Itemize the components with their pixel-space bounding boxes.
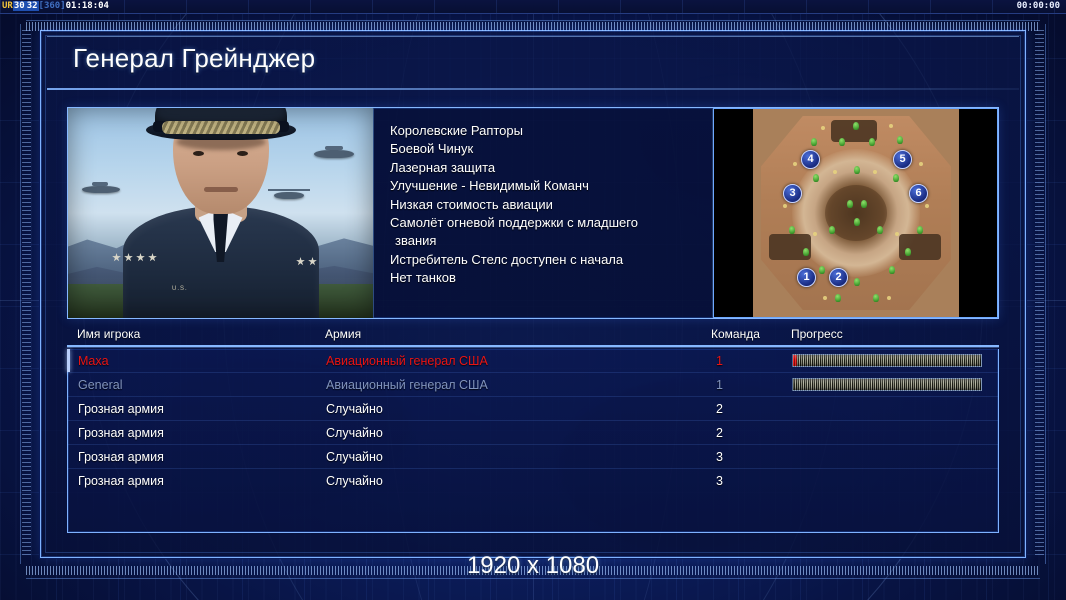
player-list-body: Maxa Авиационный генерал США 1 General А… [67,349,999,533]
map-tree [839,138,845,146]
map-tree [917,226,923,234]
map-resource [919,162,923,166]
map-start-position-5[interactable]: 5 [893,150,912,169]
map-tree [861,200,867,208]
ability-item: Самолёт огневой поддержки с младшего [390,214,702,232]
map-start-position-1[interactable]: 1 [797,268,816,287]
fps-value-secondary: 32 [26,1,39,11]
map-structure-bottomright [899,234,941,260]
map-start-position-6[interactable]: 6 [909,184,928,203]
player-team: 3 [716,445,723,469]
player-team: 2 [716,421,723,445]
header-progress: Прогресс [791,327,843,341]
map-resource [889,124,893,128]
frame-line-right [1045,24,1046,564]
map-tree [803,248,809,256]
map-tree [789,226,795,234]
fps-value: 30 [13,1,26,11]
frame-line-left [20,24,21,564]
fps-bracket: [360] [39,1,66,11]
player-name: Грозная армия [78,445,164,469]
map-preview-image: 1 2 3 4 5 6 [753,108,959,318]
title-top-rule [47,36,1019,37]
player-army: Случайно [326,397,383,421]
fps-counter: UR3032[360]01:18:04 [2,0,109,14]
map-tree [877,226,883,234]
ability-item: Низкая стоимость авиации [390,196,702,214]
player-progress-bar [792,354,982,367]
map-tree [853,122,859,130]
general-abilities-list: Королевские Рапторы Боевой Чинук Лазерна… [374,108,712,318]
ability-item: Истребитель Стелс доступен с начала [390,251,702,269]
table-row[interactable]: Maxa Авиационный генерал США 1 [68,349,998,373]
table-row[interactable]: Грозная армия Случайно 2 [68,397,998,421]
player-team: 2 [716,397,723,421]
player-name: General [78,373,122,397]
map-structure-bottomleft [769,234,811,260]
map-resource [887,296,891,300]
resolution-label: 1920 x 1080 [0,552,1066,580]
table-row[interactable]: Грозная армия Случайно 3 [68,469,998,493]
map-resource [895,232,899,236]
map-tree [854,166,860,174]
portrait-vignette [68,108,373,318]
player-list-header: Имя игрока Армия Команда Прогресс [67,327,999,347]
frame-ruler-top [26,22,1040,31]
map-resource [873,170,877,174]
map-start-position-2[interactable]: 2 [829,268,848,287]
table-row[interactable]: General Авиационный генерал США 1 [68,373,998,397]
map-tree [869,138,875,146]
fps-label: UR [2,1,13,11]
map-resource [821,126,825,130]
player-team: 1 [716,349,723,373]
general-info-box: U.S. Королевские Рапторы Боевой Чинук Ла… [67,107,999,319]
player-name: Грозная армия [78,397,164,421]
ability-item: Королевские Рапторы [390,122,702,140]
frame-ruler-left [22,30,31,558]
title-bar: Генерал Грейнджер [41,31,1025,89]
ability-item: Лазерная защита [390,159,702,177]
map-resource [813,232,817,236]
row-selection-marker [67,349,70,372]
player-name: Грозная армия [78,421,164,445]
ability-item: Боевой Чинук [390,140,702,158]
map-tree [819,266,825,274]
map-tree [847,200,853,208]
map-resource [833,170,837,174]
player-army: Случайно [326,445,383,469]
map-resource [793,162,797,166]
map-preview: 1 2 3 4 5 6 [712,108,998,318]
map-start-position-3[interactable]: 3 [783,184,802,203]
player-list: Имя игрока Армия Команда Прогресс Maxa А… [67,327,999,535]
map-tree [854,278,860,286]
progress-gloss [793,355,981,366]
player-name: Maxa [78,349,109,373]
top-status-bar: UR3032[360]01:18:04 00:00:00 [0,0,1066,14]
header-army: Армия [325,327,361,341]
game-clock: 01:18:04 [66,1,109,11]
progress-gloss [793,379,981,390]
header-team: Команда [711,327,760,341]
ability-item-continuation: звания [390,232,702,250]
frame-line-top [26,20,1040,21]
table-row[interactable]: Грозная армия Случайно 3 [68,445,998,469]
session-clock: 00:00:00 [1017,0,1060,14]
top-status-grid [0,0,1066,13]
player-progress-bar [792,378,982,391]
player-army: Случайно [326,469,383,493]
map-resource [823,296,827,300]
map-resource [925,204,929,208]
frame-ruler-right [1035,30,1044,558]
ability-item: Улучшение - Невидимый Команч [390,177,702,195]
map-tree [854,218,860,226]
map-tree [889,266,895,274]
player-team: 1 [716,373,723,397]
map-tree [835,294,841,302]
table-row[interactable]: Грозная армия Случайно 2 [68,421,998,445]
player-army: Авиационный генерал США [326,373,488,397]
general-portrait: U.S. [68,108,374,318]
map-tree [813,174,819,182]
map-resource [783,204,787,208]
map-tree [905,248,911,256]
player-team: 3 [716,469,723,493]
map-start-position-4[interactable]: 4 [801,150,820,169]
loading-screen: UR3032[360]01:18:04 00:00:00 Генерал Гре… [0,0,1066,600]
ability-item: Нет танков [390,269,702,287]
player-army: Авиационный генерал США [326,349,488,373]
header-player-name: Имя игрока [77,327,140,341]
map-tree [829,226,835,234]
player-army: Случайно [326,421,383,445]
map-tree [893,174,899,182]
map-tree [811,138,817,146]
map-tree [897,136,903,144]
map-tree [873,294,879,302]
page-title: Генерал Грейнджер [73,43,315,74]
main-panel: Генерал Грейнджер [40,30,1026,558]
title-underline [47,88,1019,90]
player-name: Грозная армия [78,469,164,493]
